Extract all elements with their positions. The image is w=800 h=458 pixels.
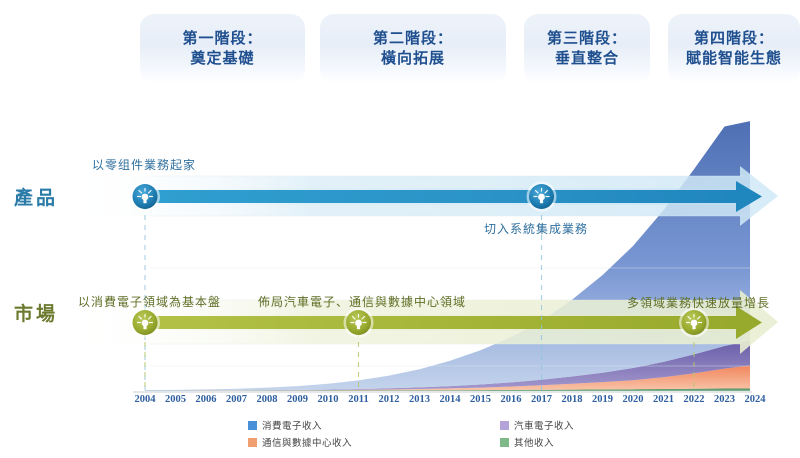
- legend-swatch-icon: [248, 438, 257, 447]
- year-tick-2013: 2013: [403, 394, 437, 405]
- milestone-market-2011[interactable]: [344, 308, 374, 338]
- year-tick-2024: 2024: [738, 394, 772, 405]
- legend-telecom[interactable]: 通信與數據中心收入: [248, 435, 352, 449]
- chart-legend: 消費電子收入通信與數據中心收入汽車電子收入其他收入: [0, 418, 800, 452]
- legend-column-1: 消費電子收入通信與數據中心收入: [248, 418, 352, 452]
- stacked-area-chart: [145, 120, 755, 391]
- year-tick-2004: 2004: [128, 394, 162, 405]
- area-series-消費電子收入: [145, 120, 755, 391]
- year-tick-2018: 2018: [555, 394, 589, 405]
- diagram-canvas: [0, 0, 800, 458]
- year-tick-2006: 2006: [189, 394, 223, 405]
- milestone-product-2017[interactable]: [527, 182, 557, 212]
- legend-label: 消費電子收入: [262, 418, 322, 432]
- year-tick-2022: 2022: [677, 394, 711, 405]
- legend-label: 汽車電子收入: [514, 418, 574, 432]
- legend-swatch-icon: [248, 421, 257, 430]
- legend-label: 通信與數據中心收入: [262, 435, 352, 449]
- year-tick-2015: 2015: [464, 394, 498, 405]
- legend-automotive[interactable]: 汽車電子收入: [500, 418, 574, 432]
- milestone-product-2004[interactable]: [130, 182, 160, 212]
- year-tick-2007: 2007: [220, 394, 254, 405]
- year-axis: 2004200520062007200820092010201120122013…: [0, 394, 800, 412]
- year-tick-2012: 2012: [372, 394, 406, 405]
- legend-swatch-icon: [500, 438, 509, 447]
- infographic-root: 第一階段：奠定基礎第二階段：橫向拓展第三階段：垂直整合第四階段：賦能智能生態 產…: [0, 0, 800, 458]
- year-tick-2019: 2019: [586, 394, 620, 405]
- year-tick-2017: 2017: [525, 394, 559, 405]
- anno-market-expand: 佈局汽車電子、通信與數據中心領域: [258, 293, 466, 310]
- anno-product-system: 切入系統集成業務: [484, 220, 588, 237]
- year-tick-2016: 2016: [494, 394, 528, 405]
- legend-swatch-icon: [500, 421, 509, 430]
- year-tick-2009: 2009: [281, 394, 315, 405]
- anno-product-start: 以零组件業務起家: [92, 156, 196, 173]
- legend-column-2: 汽車電子收入其他收入: [500, 418, 574, 452]
- year-tick-2010: 2010: [311, 394, 345, 405]
- year-tick-2021: 2021: [647, 394, 681, 405]
- legend-consumer[interactable]: 消費電子收入: [248, 418, 352, 432]
- legend-label: 其他收入: [514, 435, 554, 449]
- legend-other[interactable]: 其他收入: [500, 435, 574, 449]
- year-tick-2014: 2014: [433, 394, 467, 405]
- year-tick-2011: 2011: [342, 394, 376, 405]
- milestone-market-2022[interactable]: [679, 308, 709, 338]
- year-tick-2008: 2008: [250, 394, 284, 405]
- anno-market-base: 以消費電子領域為基本盤: [78, 293, 221, 310]
- anno-market-growth: 多領域業務快速放量增長: [627, 294, 770, 311]
- year-tick-2020: 2020: [616, 394, 650, 405]
- year-tick-2023: 2023: [708, 394, 742, 405]
- milestone-market-2004[interactable]: [130, 308, 160, 338]
- year-tick-2005: 2005: [159, 394, 193, 405]
